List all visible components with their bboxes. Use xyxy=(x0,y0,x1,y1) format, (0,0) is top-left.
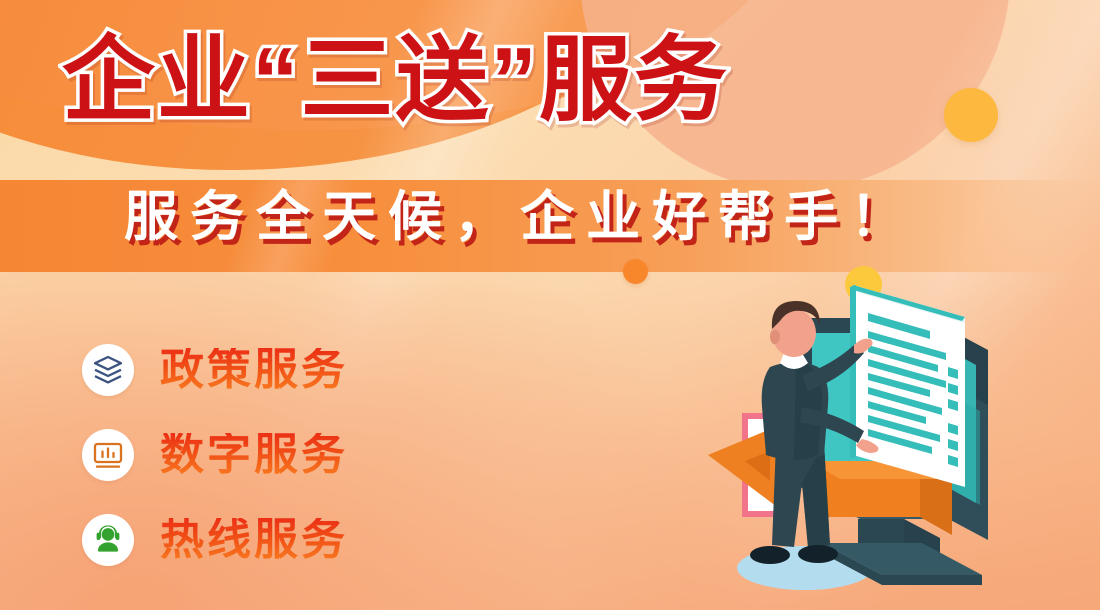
feature-label-digital-service: 数字服务 xyxy=(160,433,348,477)
banner-headline: 企业“三送”服务 xyxy=(62,34,729,127)
promo-banner: 企业“三送”服务 服务全天候，企业好帮手！ 政策服务 xyxy=(0,0,1100,610)
layers-icon xyxy=(82,344,134,396)
feature-item-policy-service[interactable]: 政策服务 xyxy=(82,338,348,401)
feature-label-hotline-service: 热线服务 xyxy=(160,518,348,562)
feature-label-policy-service: 政策服务 xyxy=(160,348,348,392)
presentation-chart-icon xyxy=(82,429,134,481)
orange-dot-decoration xyxy=(623,259,648,284)
gold-circle-decoration xyxy=(944,88,998,142)
document-sheet xyxy=(850,285,965,487)
feature-list: 政策服务 数字服务 xyxy=(82,338,348,593)
illustration-businessman-document xyxy=(690,255,1100,610)
feature-item-digital-service[interactable]: 数字服务 xyxy=(82,423,348,486)
feature-item-hotline-service[interactable]: 热线服务 xyxy=(82,508,348,571)
banner-subtitle: 服务全天候，企业好帮手！ xyxy=(124,190,916,244)
headset-agent-icon xyxy=(82,514,134,566)
